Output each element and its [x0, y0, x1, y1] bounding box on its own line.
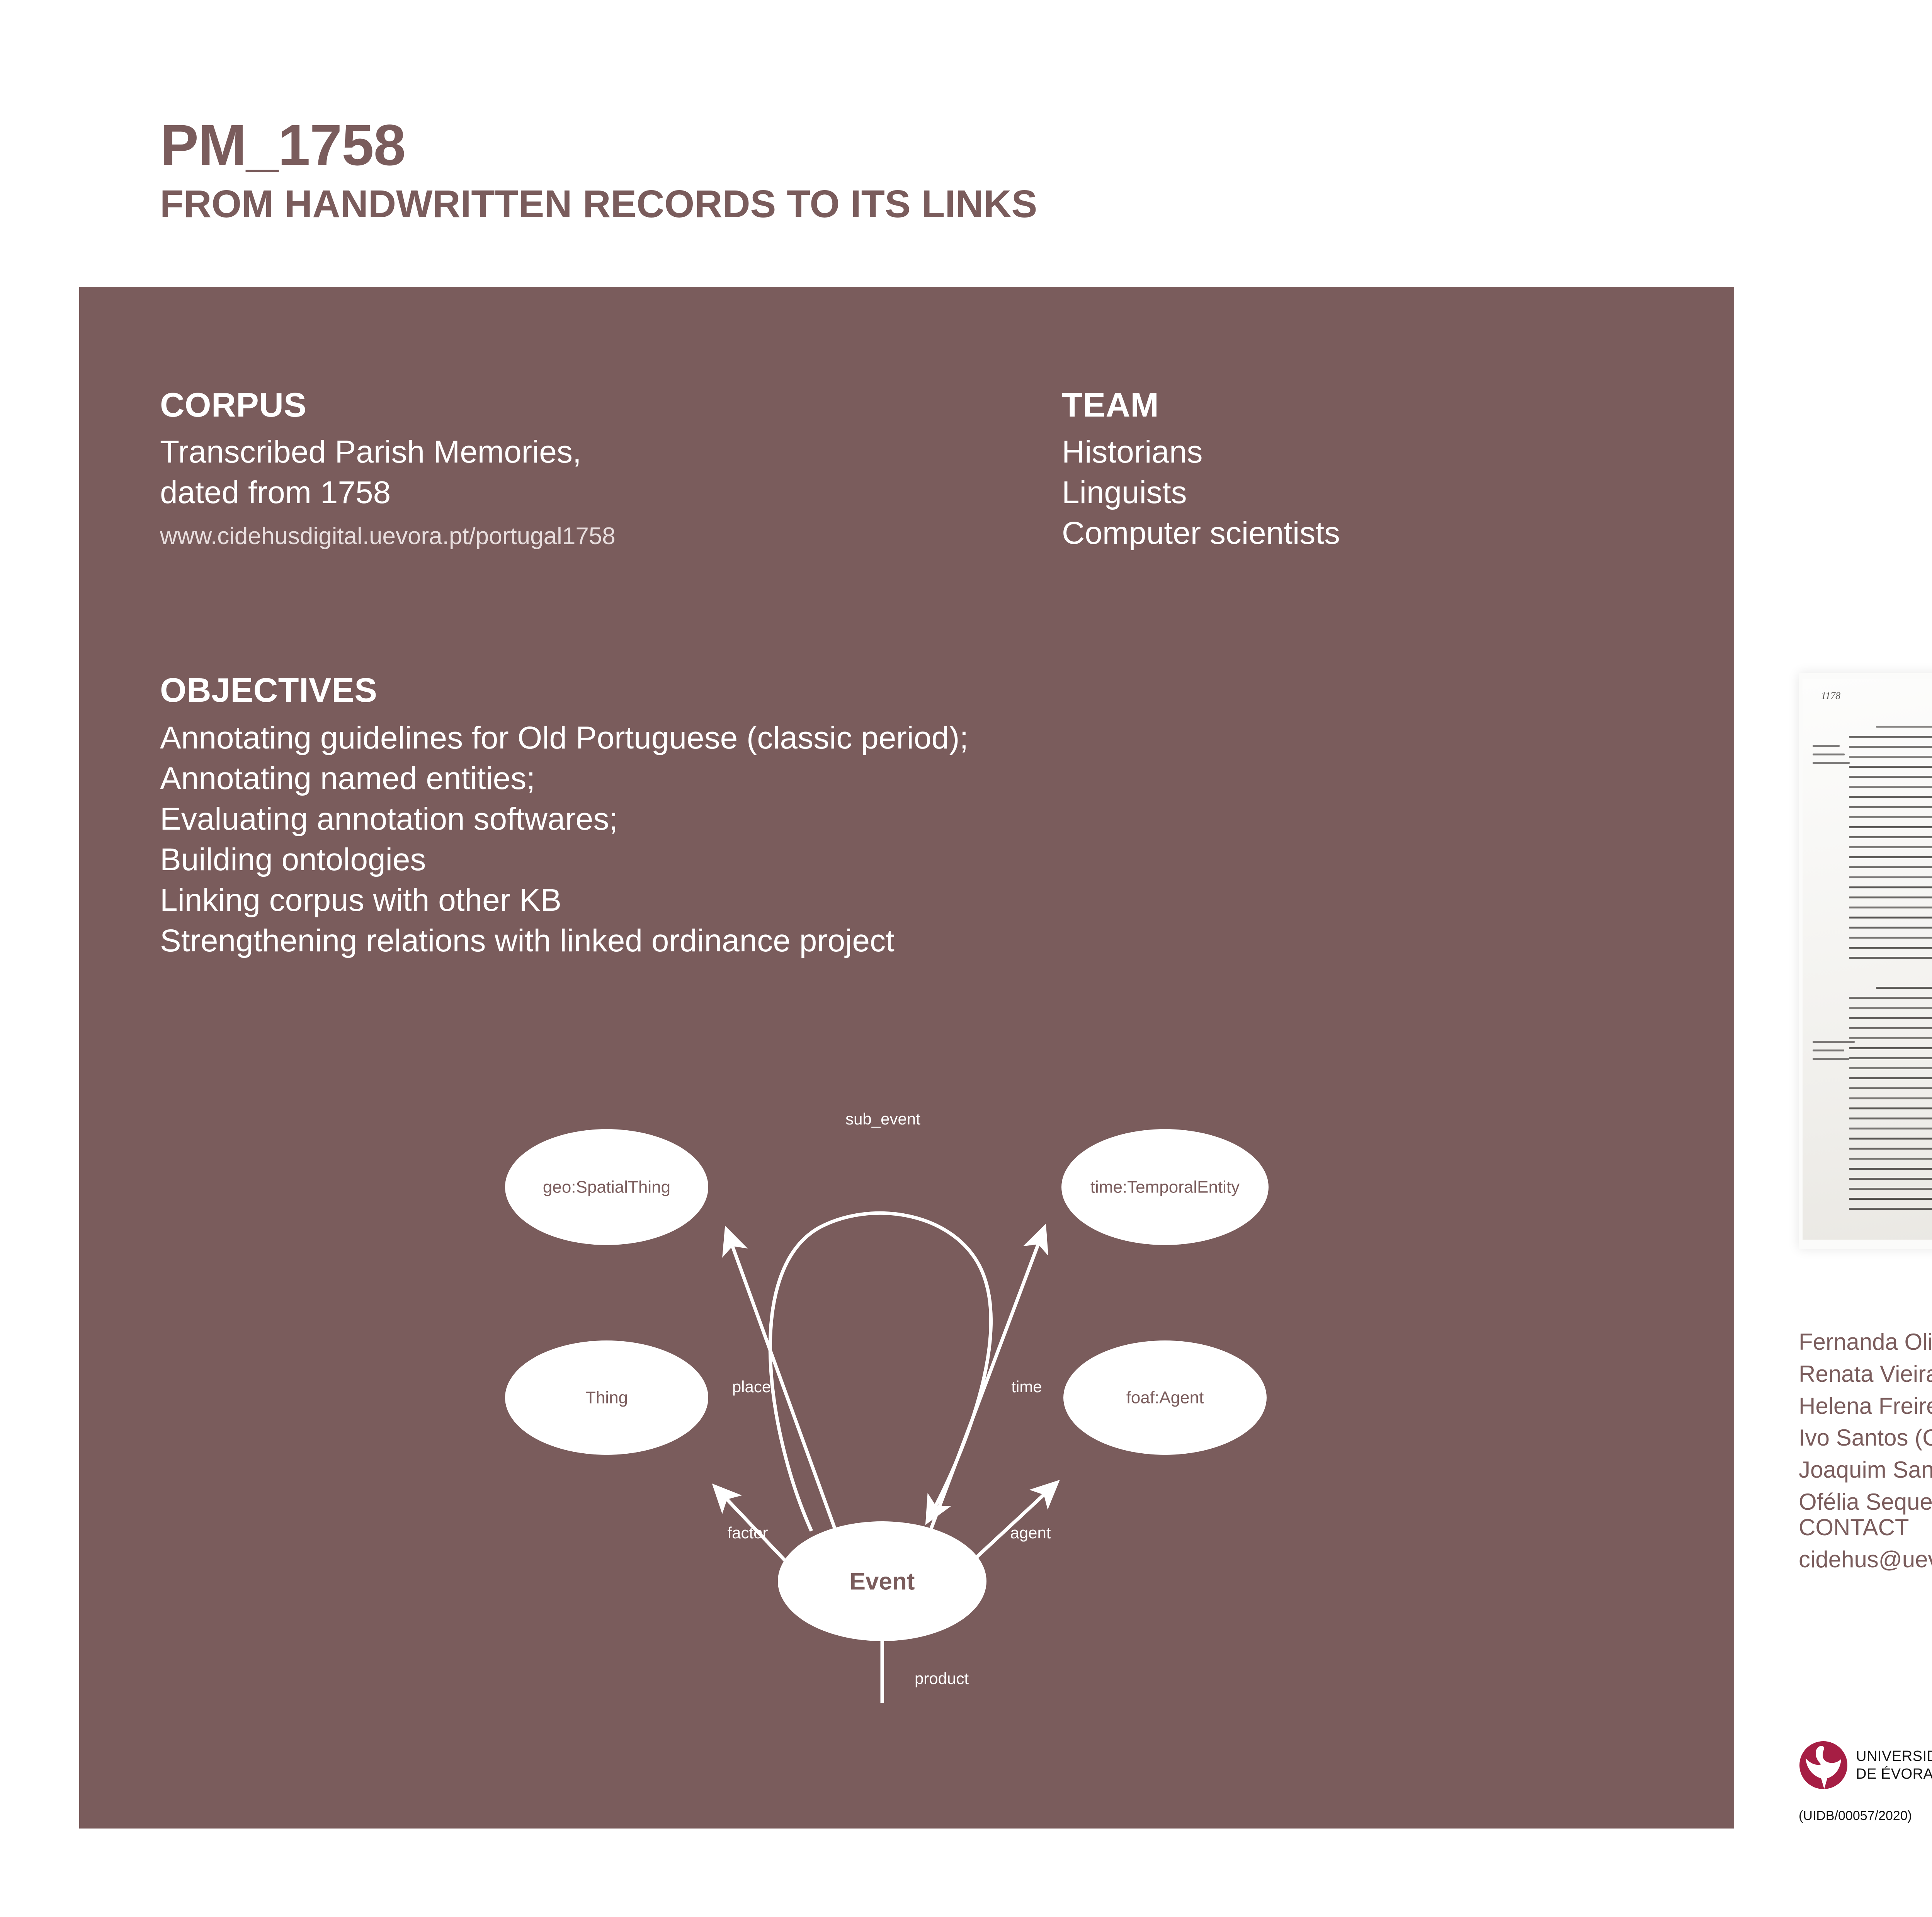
people-list: Fernanda Olival (Univ.Evora; CIDEHUS) – … — [1799, 1326, 1932, 1518]
corpus-heading: CORPUS — [160, 388, 1049, 422]
contact-label: CONTACT — [1799, 1512, 1932, 1544]
main-content-panel: CORPUS Transcribed Parish Memories, date… — [79, 287, 1734, 1829]
objective-item: Evaluating annotation softwares; — [160, 799, 1667, 840]
team-section: TEAM Historians Linguists Computer scien… — [1062, 388, 1680, 554]
person-entry: Ivo Santos (CIDEHUS.UÉ) — [1799, 1422, 1932, 1454]
person-entry: Joaquim Santos (DI, UÉ) — [1799, 1454, 1932, 1486]
poster-header: PM_1758 FROM HANDWRITTEN RECORDS TO ITS … — [160, 116, 1319, 226]
node-foaf-agent[interactable]: foaf:Agent — [1063, 1340, 1267, 1455]
corpus-line-2: dated from 1758 — [160, 473, 1049, 513]
ue-wordmark-line-1: UNIVERSIDADE — [1856, 1747, 1932, 1765]
corpus-url-link[interactable]: www.cidehusdigital.uevora.pt/portugal175… — [160, 521, 1049, 552]
edge-agent — [976, 1483, 1057, 1558]
manuscript-image: 1178 1179 — [1799, 673, 1932, 1249]
ue-swan-emblem-icon — [1799, 1740, 1848, 1790]
ue-wordmark-line-2: DE ÉVORA — [1856, 1765, 1932, 1783]
corpus-line-1: Transcribed Parish Memories, — [160, 432, 1049, 473]
manuscript-page-left: 1178 — [1803, 679, 1932, 1240]
node-thing-left[interactable]: Thing — [505, 1340, 708, 1455]
objective-item: Strengthening relations with linked ordi… — [160, 921, 1667, 961]
contact-email[interactable]: cidehus@uevora.pt — [1799, 1544, 1932, 1576]
node-time-temporalentity[interactable]: time:TemporalEntity — [1061, 1129, 1269, 1245]
edge-label-agent: agent — [1010, 1524, 1051, 1542]
node-foaf-label: foaf:Agent — [1126, 1388, 1204, 1407]
team-roles-list: Historians Linguists Computer scientists — [1062, 432, 1680, 554]
team-role: Computer scientists — [1062, 513, 1680, 554]
node-time-label: time:TemporalEntity — [1090, 1178, 1240, 1197]
corpus-section: CORPUS Transcribed Parish Memories, date… — [160, 388, 1049, 552]
ue-wordmark: UNIVERSIDADE DE ÉVORA — [1856, 1747, 1932, 1783]
team-role: Linguists — [1062, 473, 1680, 513]
objective-item: Annotating guidelines for Old Portuguese… — [160, 718, 1667, 759]
edge-sub-event — [770, 1213, 991, 1531]
node-geo-label: geo:SpatialThing — [543, 1178, 670, 1197]
edge-label-place: place — [732, 1378, 771, 1396]
objective-item: Annotating named entities; — [160, 759, 1667, 799]
person-entry: Renata Vieira (CIDEHUS.UÉ) — [1799, 1358, 1932, 1390]
ue-funding-ref: (UIDB/00057/2020) — [1799, 1808, 1912, 1823]
folio-number-left: 1178 — [1821, 690, 1840, 702]
page-subtitle: FROM HANDWRITTEN RECORDS TO ITS LINKS — [160, 182, 1319, 226]
objectives-heading: OBJECTIVES — [160, 673, 1667, 707]
footer-logo-row: UNIVERSIDADE DE ÉVORA (UIDB/00057/2020) … — [1799, 1740, 1932, 1825]
edge-label-product: product — [915, 1669, 969, 1687]
person-entry: Fernanda Olival (Univ.Evora; CIDEHUS) – … — [1799, 1326, 1932, 1358]
page-title: PM_1758 — [160, 116, 1319, 174]
team-role: Historians — [1062, 432, 1680, 473]
edge-label-sub-event: sub_event — [845, 1110, 920, 1128]
ontology-diagram: geo:SpatialThing time:TemporalEntity Thi… — [473, 1100, 1293, 1703]
objectives-section: OBJECTIVES Annotating guidelines for Old… — [160, 673, 1667, 961]
objective-item: Linking corpus with other KB — [160, 880, 1667, 921]
node-event-label: Event — [850, 1568, 915, 1595]
node-thing-left-label: Thing — [585, 1388, 628, 1407]
corpus-body: Transcribed Parish Memories, dated from … — [160, 432, 1049, 513]
person-entry: Helena Freire Cameron (Inst.Politéc. Por… — [1799, 1390, 1932, 1422]
objectives-list: Annotating guidelines for Old Portuguese… — [160, 718, 1667, 961]
team-heading: TEAM — [1062, 388, 1680, 422]
right-column: 1178 1179 ANTT, Mem.Paroquiais, Vol.24, … — [1787, 287, 1932, 1832]
edge-label-time: time — [1011, 1378, 1042, 1396]
objective-item: Building ontologies — [160, 840, 1667, 880]
node-geo-spatialthing[interactable]: geo:SpatialThing — [505, 1129, 708, 1245]
manuscript-figure: 1178 1179 ANTT, Mem.Paroquiais, Vol.24, … — [1799, 673, 1932, 1253]
node-event[interactable]: Event — [778, 1521, 986, 1641]
contact-section: CONTACT cidehus@uevora.pt — [1799, 1512, 1932, 1576]
edge-label-factor: factor — [727, 1524, 768, 1542]
